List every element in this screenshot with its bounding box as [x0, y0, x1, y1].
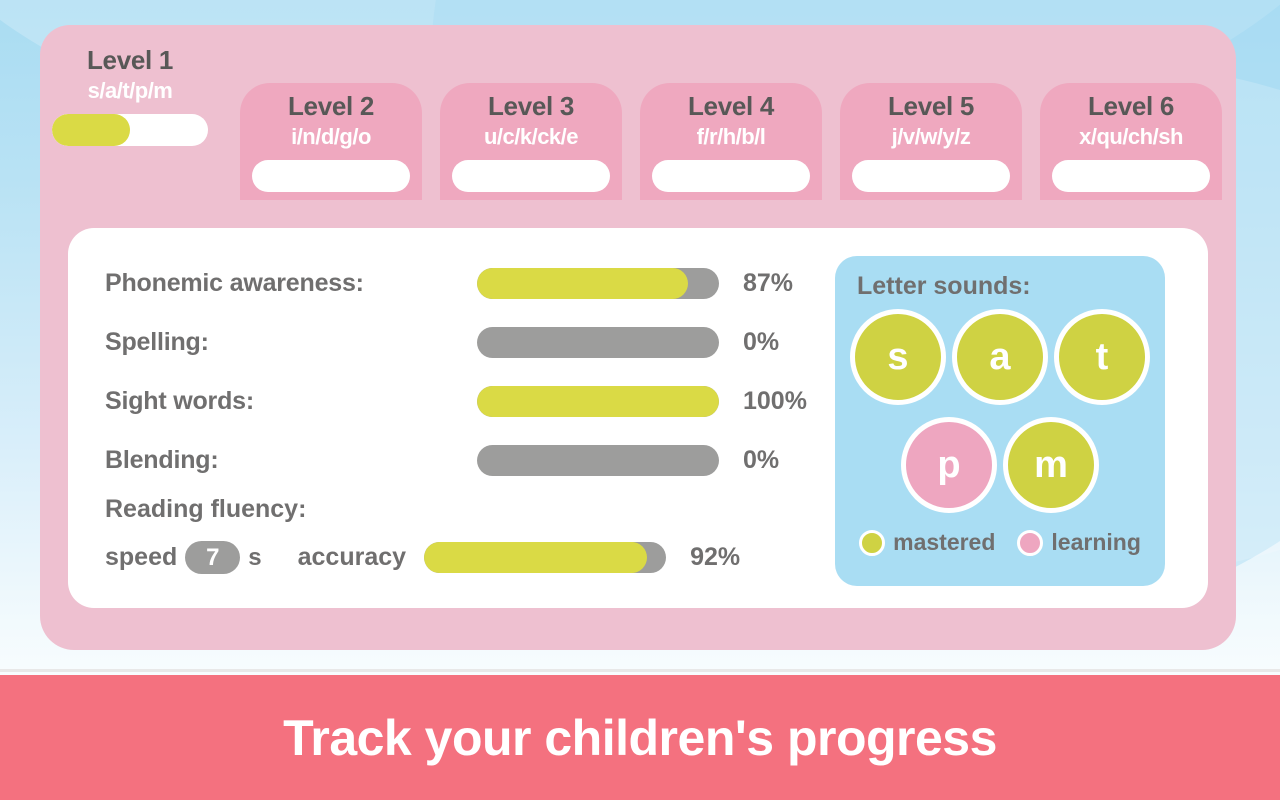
metric-progress-bar — [477, 327, 719, 358]
metric-label: Phonemic awareness: — [105, 269, 477, 298]
mastered-dot-icon — [859, 530, 885, 556]
legend-item-learning: learning — [1017, 529, 1140, 556]
letter-sounds-panel: Letter sounds: sat pm masteredlearning — [835, 256, 1165, 586]
legend-label: mastered — [893, 529, 995, 556]
level-tab-title: Level 2 — [252, 93, 410, 120]
metric-label: Sight words: — [105, 387, 477, 416]
promo-banner: Track your children's progress — [0, 675, 1280, 800]
app-root: Level 1s/a/t/p/mLevel 2i/n/d/g/oLevel 3u… — [0, 0, 1280, 800]
accuracy-label: accuracy — [298, 543, 406, 572]
level-tabs: Level 1s/a/t/p/mLevel 2i/n/d/g/oLevel 3u… — [40, 25, 1240, 200]
level-tab-title: Level 1 — [52, 47, 208, 74]
metric-value: 87% — [743, 269, 819, 298]
metric-value: 100% — [743, 387, 819, 416]
level-tab-title: Level 5 — [852, 93, 1010, 120]
level-tab-5[interactable]: Level 5j/v/w/y/z — [840, 83, 1022, 200]
metric-row: Sight words:100% — [105, 372, 830, 431]
level-progress-fill — [52, 114, 130, 146]
metric-progress-bar — [477, 386, 719, 417]
legend-item-mastered: mastered — [859, 529, 995, 556]
metrics-list: Phonemic awareness:87%Spelling:0%Sight w… — [68, 228, 830, 608]
level-progress-bar — [452, 160, 610, 192]
level-tab-letters: i/n/d/g/o — [252, 124, 410, 150]
level-progress-bar — [852, 160, 1010, 192]
letter-circle-p[interactable]: p — [901, 417, 997, 513]
learning-dot-icon — [1017, 530, 1043, 556]
level-tab-letters: f/r/h/b/l — [652, 124, 810, 150]
speed-unit: s — [248, 544, 261, 572]
metric-label: Blending: — [105, 446, 477, 475]
metric-row: Spelling:0% — [105, 313, 830, 372]
metric-row: Blending:0% — [105, 431, 830, 490]
accuracy-progress-fill — [424, 542, 647, 573]
reading-fluency-row: speed7saccuracy92% — [105, 541, 830, 574]
letter-sounds-legend: masteredlearning — [835, 529, 1165, 556]
level-tab-3[interactable]: Level 3u/c/k/ck/e — [440, 83, 622, 200]
letter-circle-a[interactable]: a — [952, 309, 1048, 405]
metric-progress-bar — [477, 268, 719, 299]
metric-progress-bar — [477, 445, 719, 476]
level-tab-letters: u/c/k/ck/e — [452, 124, 610, 150]
level-progress-bar — [652, 160, 810, 192]
level-tab-1[interactable]: Level 1s/a/t/p/m — [40, 25, 220, 200]
level-tab-letters: s/a/t/p/m — [52, 78, 208, 104]
letter-circles-row-1: sat — [835, 309, 1165, 405]
level-tab-6[interactable]: Level 6x/qu/ch/sh — [1040, 83, 1222, 200]
level-tab-title: Level 6 — [1052, 93, 1210, 120]
level-tab-title: Level 4 — [652, 93, 810, 120]
accuracy-progress-bar — [424, 542, 666, 573]
letter-circles-row-2: pm — [835, 417, 1165, 513]
level-tab-letters: x/qu/ch/sh — [1052, 124, 1210, 150]
level-progress-bar — [252, 160, 410, 192]
letter-sounds-title: Letter sounds: — [857, 272, 1165, 301]
level-tab-title: Level 3 — [452, 93, 610, 120]
letter-circle-m[interactable]: m — [1003, 417, 1099, 513]
level-progress-bar — [1052, 160, 1210, 192]
legend-label: learning — [1051, 529, 1140, 556]
letter-circle-s[interactable]: s — [850, 309, 946, 405]
level-tab-2[interactable]: Level 2i/n/d/g/o — [240, 83, 422, 200]
speed-label: speed — [105, 543, 177, 572]
metric-label: Spelling: — [105, 328, 477, 357]
letter-circle-t[interactable]: t — [1054, 309, 1150, 405]
metric-value: 0% — [743, 446, 819, 475]
level-tab-letters: j/v/w/y/z — [852, 124, 1010, 150]
metric-row: Phonemic awareness:87% — [105, 254, 830, 313]
metric-progress-fill — [477, 268, 688, 299]
section-divider — [0, 669, 1280, 672]
reading-fluency-title: Reading fluency: — [105, 495, 830, 537]
level-tab-4[interactable]: Level 4f/r/h/b/l — [640, 83, 822, 200]
level-progress-bar — [52, 114, 208, 146]
metric-value: 0% — [743, 328, 819, 357]
accuracy-value: 92% — [690, 543, 766, 572]
metric-progress-fill — [477, 386, 719, 417]
speed-value-badge: 7 — [185, 541, 240, 574]
promo-banner-text: Track your children's progress — [283, 709, 997, 767]
